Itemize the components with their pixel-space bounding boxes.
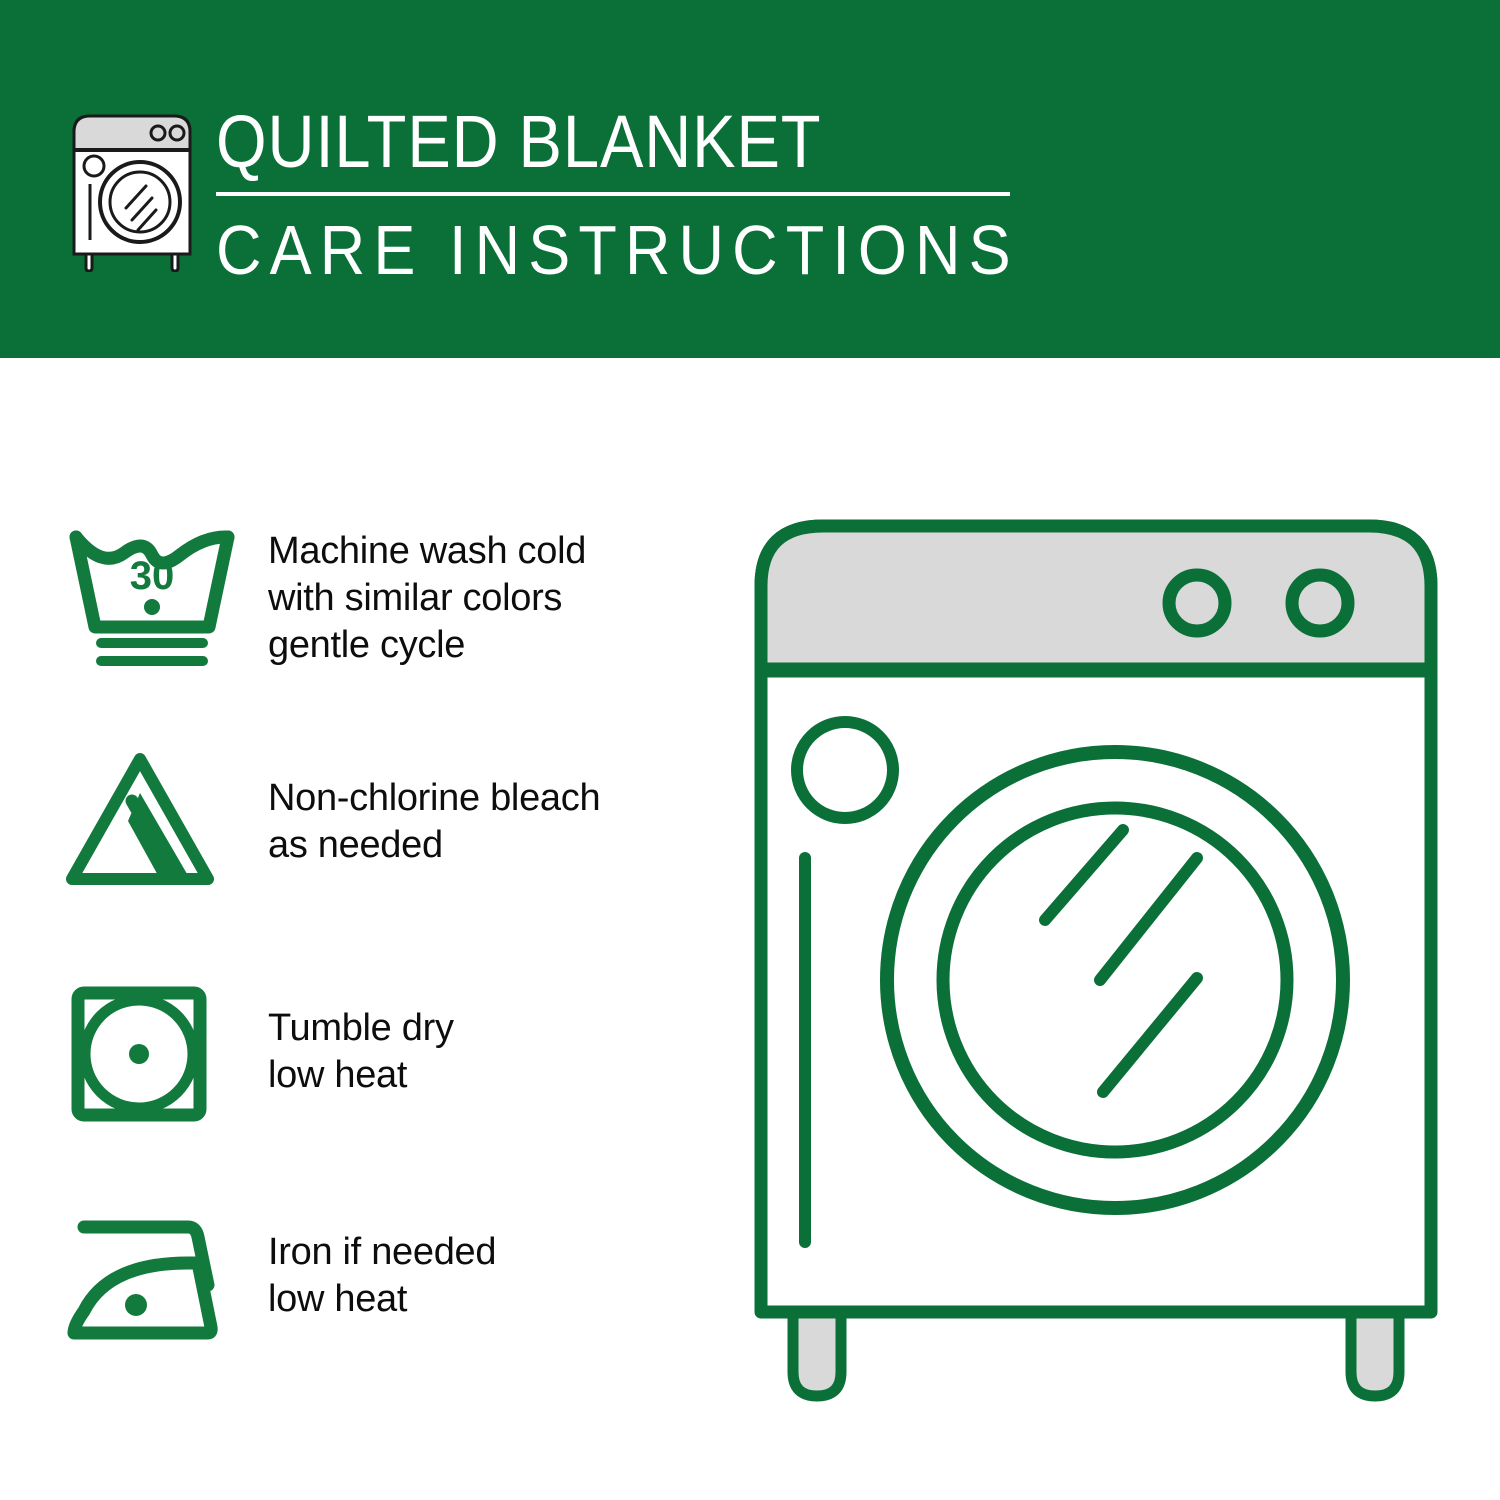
iron-low-heat-icon [62, 1196, 252, 1356]
title-divider [216, 192, 1010, 196]
care-row-tumble-dry: Tumble dry low heat [62, 972, 712, 1132]
washer-control-panel [761, 526, 1431, 670]
care-instructions-page: QUILTED BLANKET CARE INSTRUCTIONS 30 Mac… [0, 0, 1500, 1500]
tumble-dry-low-icon [62, 972, 252, 1132]
bleach-triangle-icon [62, 742, 252, 902]
page-subtitle: CARE INSTRUCTIONS [216, 210, 954, 290]
care-text-tumble-dry: Tumble dry low heat [268, 1005, 454, 1099]
front-load-washing-machine-illustration [745, 500, 1465, 1410]
page-title: QUILTED BLANKET [216, 100, 938, 184]
washing-machine-icon [62, 104, 202, 272]
care-row-bleach: Non-chlorine bleach as needed [62, 742, 712, 902]
care-row-iron: Iron if needed low heat [62, 1196, 712, 1356]
care-text-iron: Iron if needed low heat [268, 1229, 496, 1323]
wash-tub-30-icon: 30 [62, 518, 252, 678]
care-row-wash: 30 Machine wash cold with similar colors… [62, 518, 712, 678]
header-text-block: QUILTED BLANKET CARE INSTRUCTIONS [216, 100, 1036, 290]
header-banner: QUILTED BLANKET CARE INSTRUCTIONS [0, 0, 1500, 358]
care-text-wash: Machine wash cold with similar colors ge… [268, 528, 586, 669]
care-text-bleach: Non-chlorine bleach as needed [268, 775, 600, 869]
wash-temp-label: 30 [130, 554, 175, 598]
